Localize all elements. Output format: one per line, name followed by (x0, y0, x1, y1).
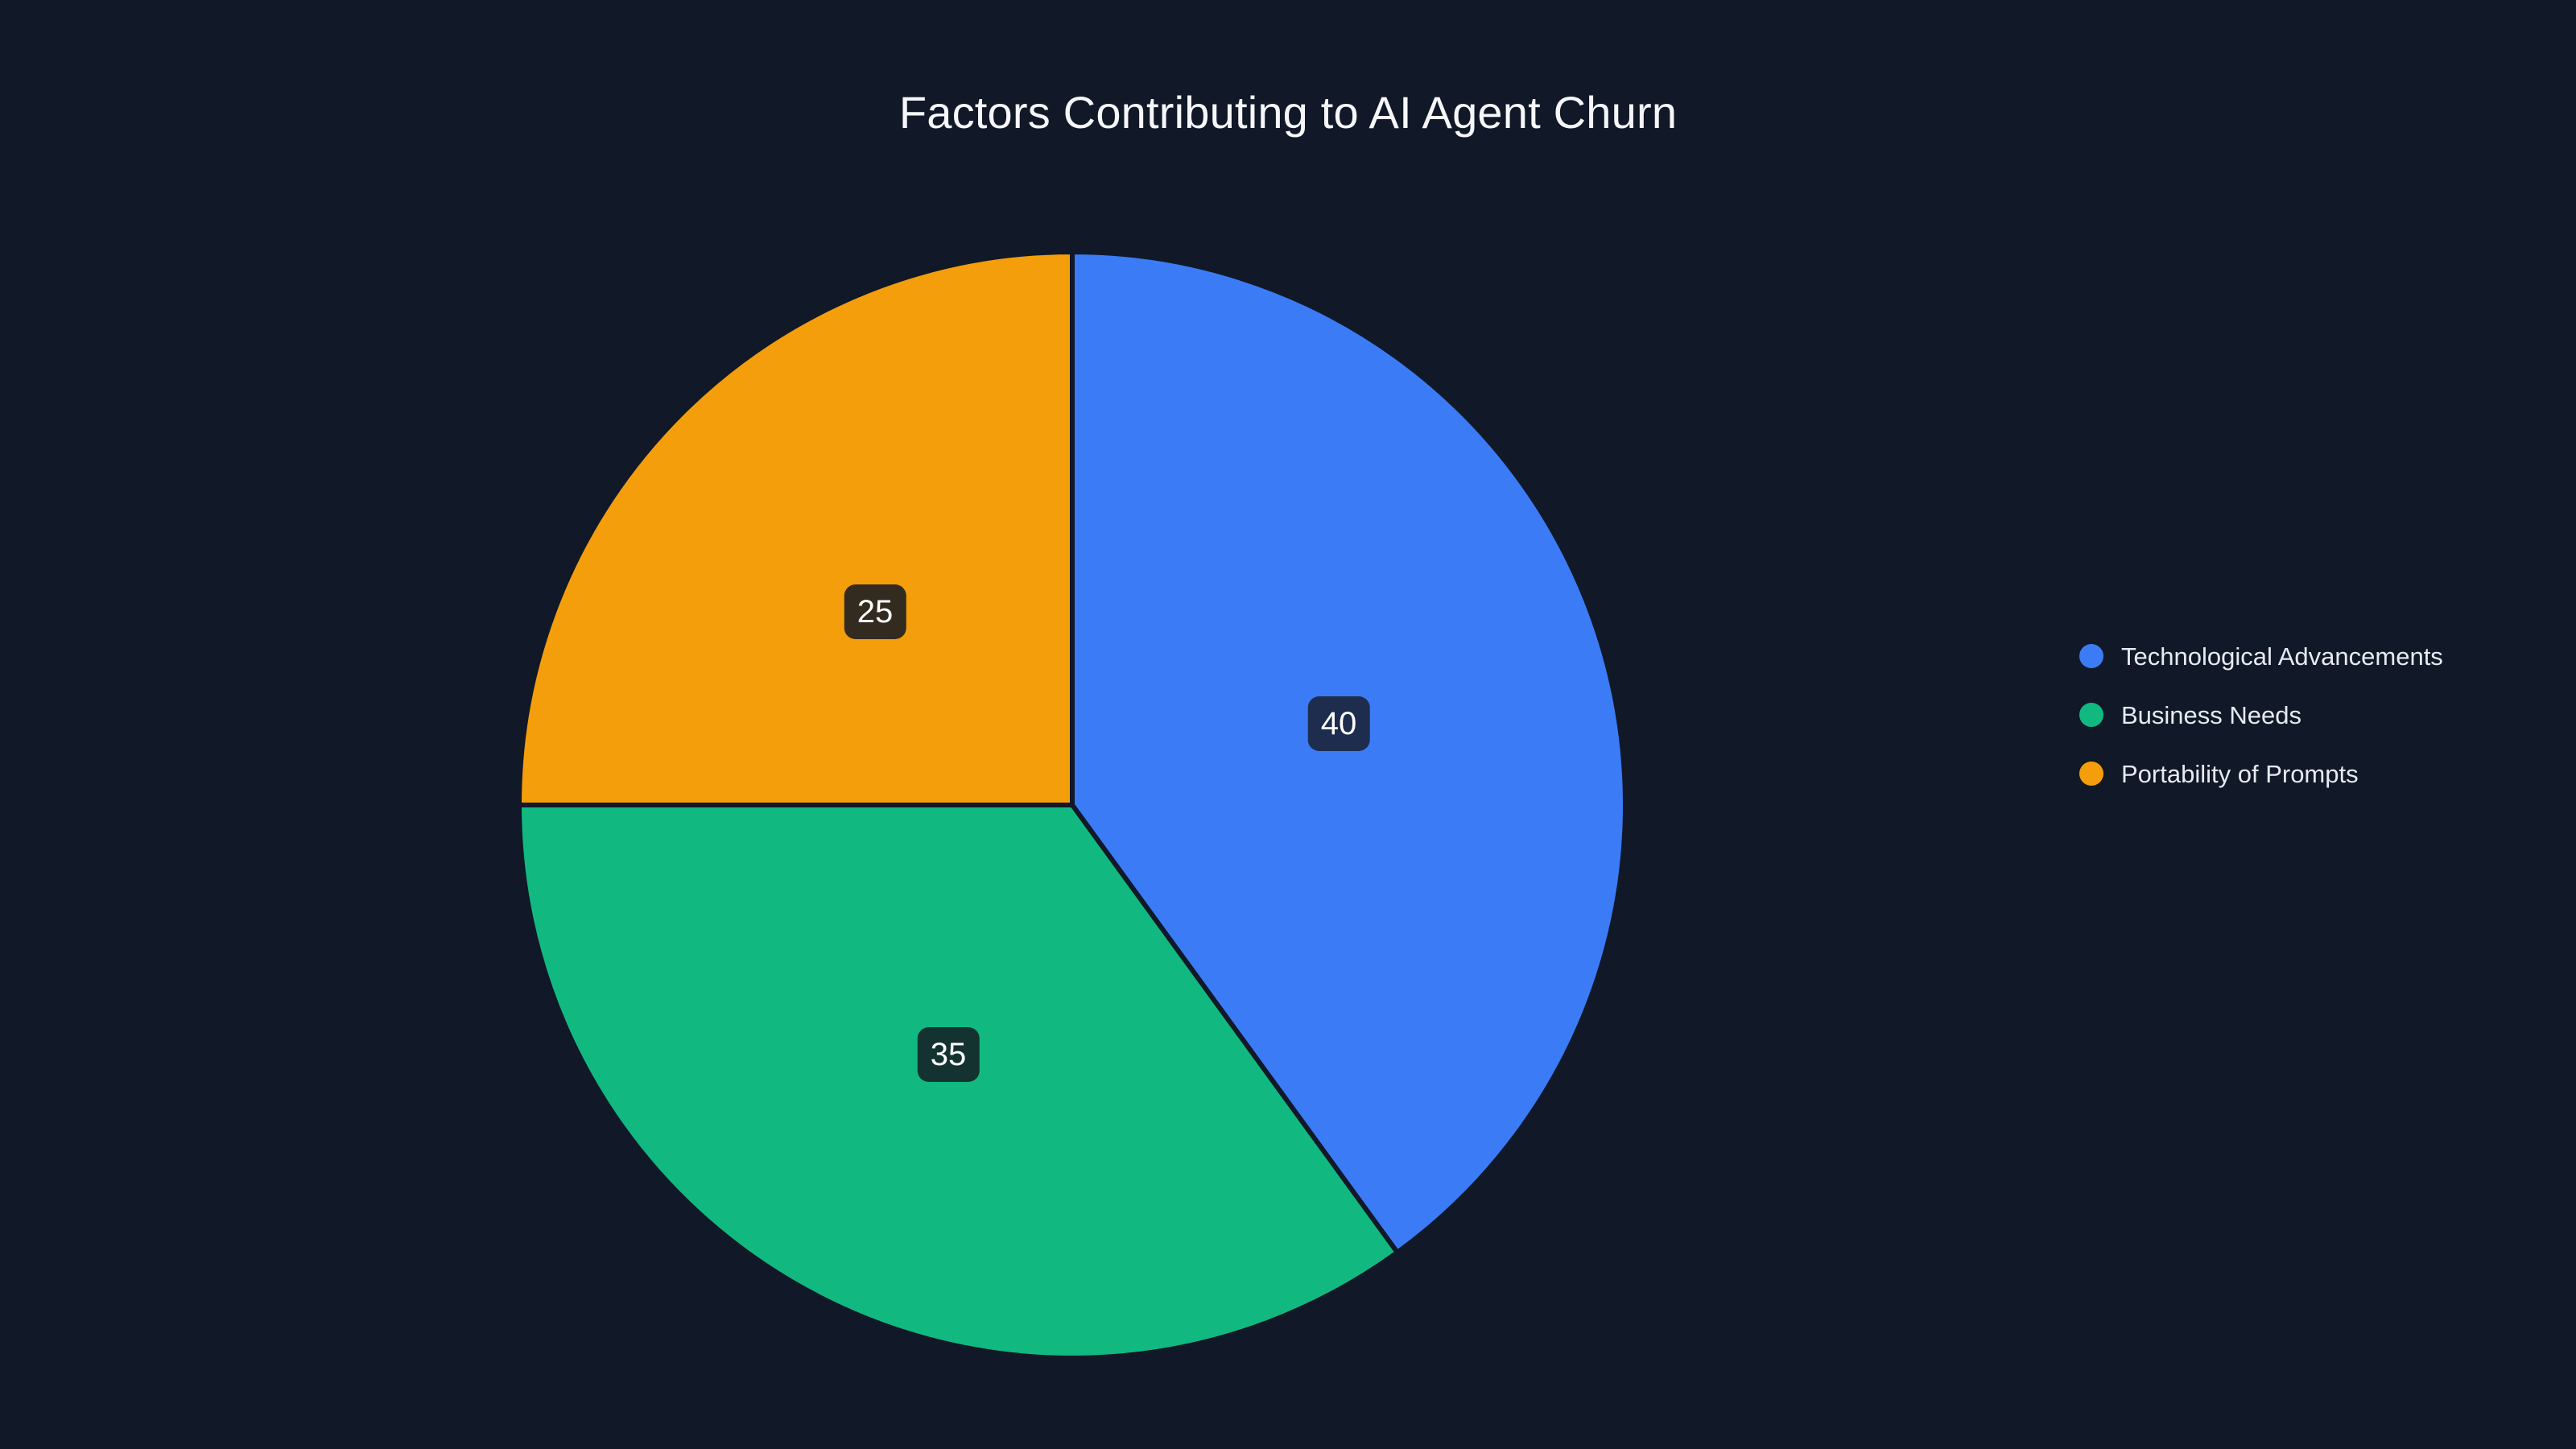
pie-slice-data-label: 35 (918, 1027, 980, 1082)
legend-item-label: Technological Advancements (2121, 644, 2443, 669)
chart-legend: Technological AdvancementsBusiness Needs… (2079, 644, 2443, 786)
pie-chart-figure: Factors Contributing to AI Agent Churn 4… (0, 0, 2576, 1449)
pie-slice-data-label: 40 (1308, 696, 1370, 751)
pie-slice[interactable] (519, 252, 1072, 805)
legend-item[interactable]: Business Needs (2079, 703, 2443, 727)
legend-item[interactable]: Technological Advancements (2079, 644, 2443, 668)
legend-color-swatch-icon (2079, 762, 2103, 786)
legend-item-label: Business Needs (2121, 703, 2301, 728)
pie-plot-area (519, 252, 1625, 1358)
legend-color-swatch-icon (2079, 644, 2103, 668)
pie-svg (519, 252, 1625, 1358)
legend-item-label: Portability of Prompts (2121, 762, 2359, 786)
chart-title: Factors Contributing to AI Agent Churn (0, 90, 2576, 135)
legend-item[interactable]: Portability of Prompts (2079, 762, 2443, 786)
pie-slice-data-label: 25 (844, 584, 906, 639)
pie-slice-group (519, 252, 1625, 1358)
legend-color-swatch-icon (2079, 703, 2103, 727)
